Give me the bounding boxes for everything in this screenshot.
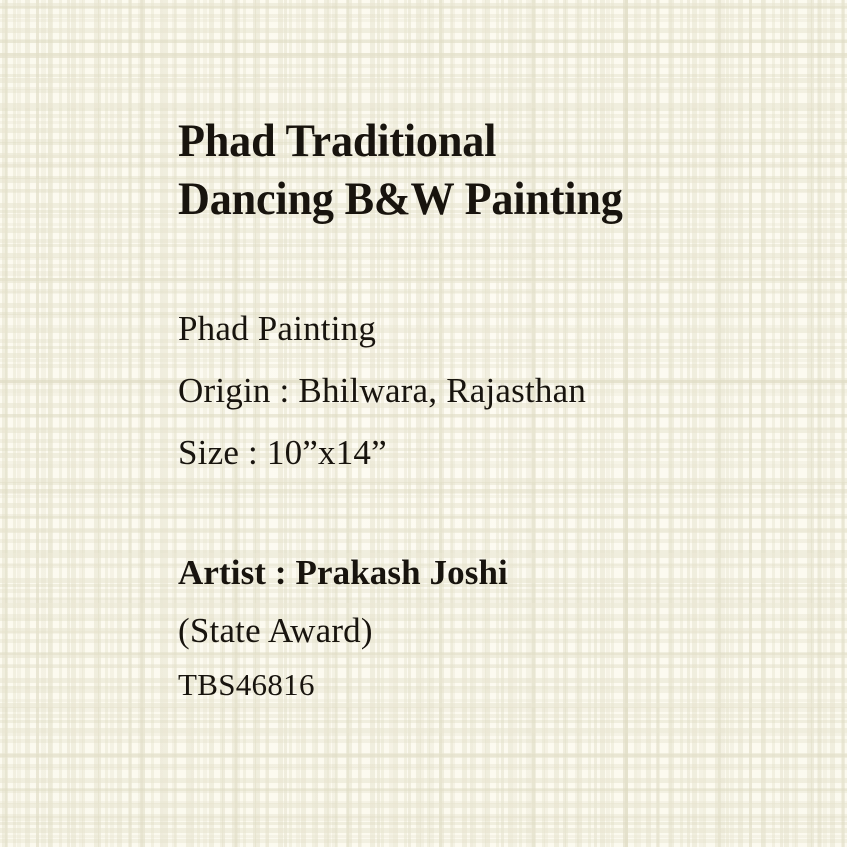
product-title: Phad Traditional Dancing B&W Painting [178,112,761,228]
label-text-content: Phad Traditional Dancing B&W Painting Ph… [178,0,818,847]
product-code: TBS46816 [178,661,798,709]
product-title-line-1: Phad Traditional [178,115,496,167]
artist-award: (State Award) [178,601,798,661]
detail-size: Size : 10”x14” [178,422,798,484]
artist-details: Artist : Prakash Joshi (State Award) TBS… [178,545,798,709]
artist-name: Artist : Prakash Joshi [178,545,798,601]
detail-origin: Origin : Bhilwara, Rajasthan [178,360,798,422]
product-title-line-2: Dancing B&W Painting [178,173,623,225]
product-details: Phad Painting Origin : Bhilwara, Rajasth… [178,298,798,484]
product-label-card: Phad Traditional Dancing B&W Painting Ph… [0,0,847,847]
detail-category: Phad Painting [178,298,798,360]
